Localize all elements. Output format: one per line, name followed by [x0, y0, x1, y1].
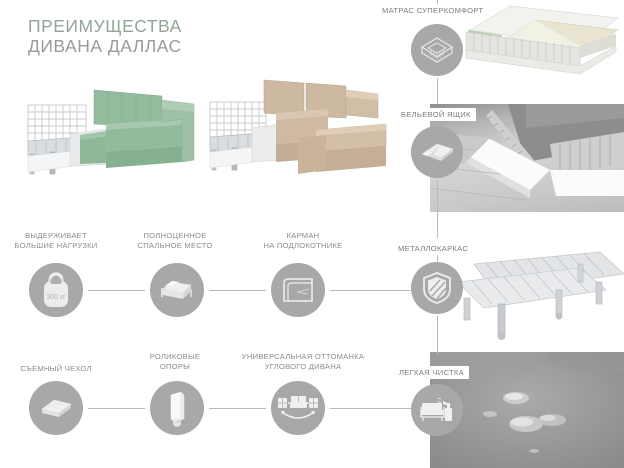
- feature-label-easy-clean: ЛЕГКАЯ ЧИСТКА: [397, 366, 469, 379]
- kettlebell-value: 300 кг: [46, 294, 66, 301]
- feature-label-universal-ottoman: УНИВЕРСАЛЬНАЯ ОТТОМАНКА УГЛОВОГО ДИВАНА: [229, 352, 377, 373]
- feature-label-roller-supports: РОЛИКОВЫЕ ОПОРЫ: [119, 352, 231, 373]
- product-image-dallas-armchair-sofa: [14, 78, 204, 186]
- page-title-line2: ДИВАНА ДАЛЛАС: [28, 36, 182, 56]
- connector-line-1: [88, 290, 145, 291]
- feature-label-heavy-load: ВЫДЕРЖИВАЕТ БОЛЬШИЕ НАГРУЗКИ: [0, 231, 112, 252]
- connector-line-frame-clean: [437, 316, 438, 354]
- sofa-spray-icon: [411, 384, 463, 436]
- ottoman-swap-icon: [271, 381, 325, 435]
- kettlebell-icon: 300 кг: [29, 263, 83, 317]
- roller-leg-icon: [150, 381, 204, 435]
- product-image-dallas-corner-sofa: [200, 68, 400, 186]
- feature-label-linen-drawer: БЕЛЬЕВОЙ ЯЩИК: [399, 108, 476, 121]
- feature-label-removable-cover: СЪЕМНЫЙ ЧЕХОЛ: [0, 364, 112, 374]
- feature-label-full-sleeping-place: ПОЛНОЦЕННОЕ СПАЛЬНОЕ МЕСТО: [119, 231, 231, 252]
- shield-icon: [411, 262, 463, 314]
- feature-label-metal-frame: МЕТАЛЛОКАРКАС: [396, 242, 473, 255]
- pocket-icon: [271, 263, 325, 317]
- infographic-page: ПРЕИМУЩЕСТВА ДИВАНА ДАЛЛАС: [0, 0, 624, 468]
- feature-label-armrest-pocket: КАРМАН НА ПОДЛОКОТНИКЕ: [244, 231, 362, 252]
- connector-line-4: [88, 408, 145, 409]
- bed-icon: [150, 263, 204, 317]
- connector-line-drawer-frame: [437, 180, 438, 238]
- connector-line-2: [209, 290, 266, 291]
- drawer-icon: [411, 126, 463, 178]
- connector-line-6: [330, 408, 411, 409]
- connector-line-3: [330, 290, 411, 291]
- connector-line-mattress-drawer: [437, 78, 438, 104]
- connector-line-frame-label: [437, 254, 438, 262]
- mattress-icon: [411, 24, 463, 76]
- feature-label-mattress: МАТРАС СУПЕРКОМФОРТ: [380, 4, 488, 17]
- connector-line-5: [209, 408, 266, 409]
- cover-icon: [29, 381, 83, 435]
- page-title: ПРЕИМУЩЕСТВА ДИВАНА ДАЛЛАС: [28, 16, 182, 57]
- page-title-line1: ПРЕИМУЩЕСТВА: [28, 16, 182, 36]
